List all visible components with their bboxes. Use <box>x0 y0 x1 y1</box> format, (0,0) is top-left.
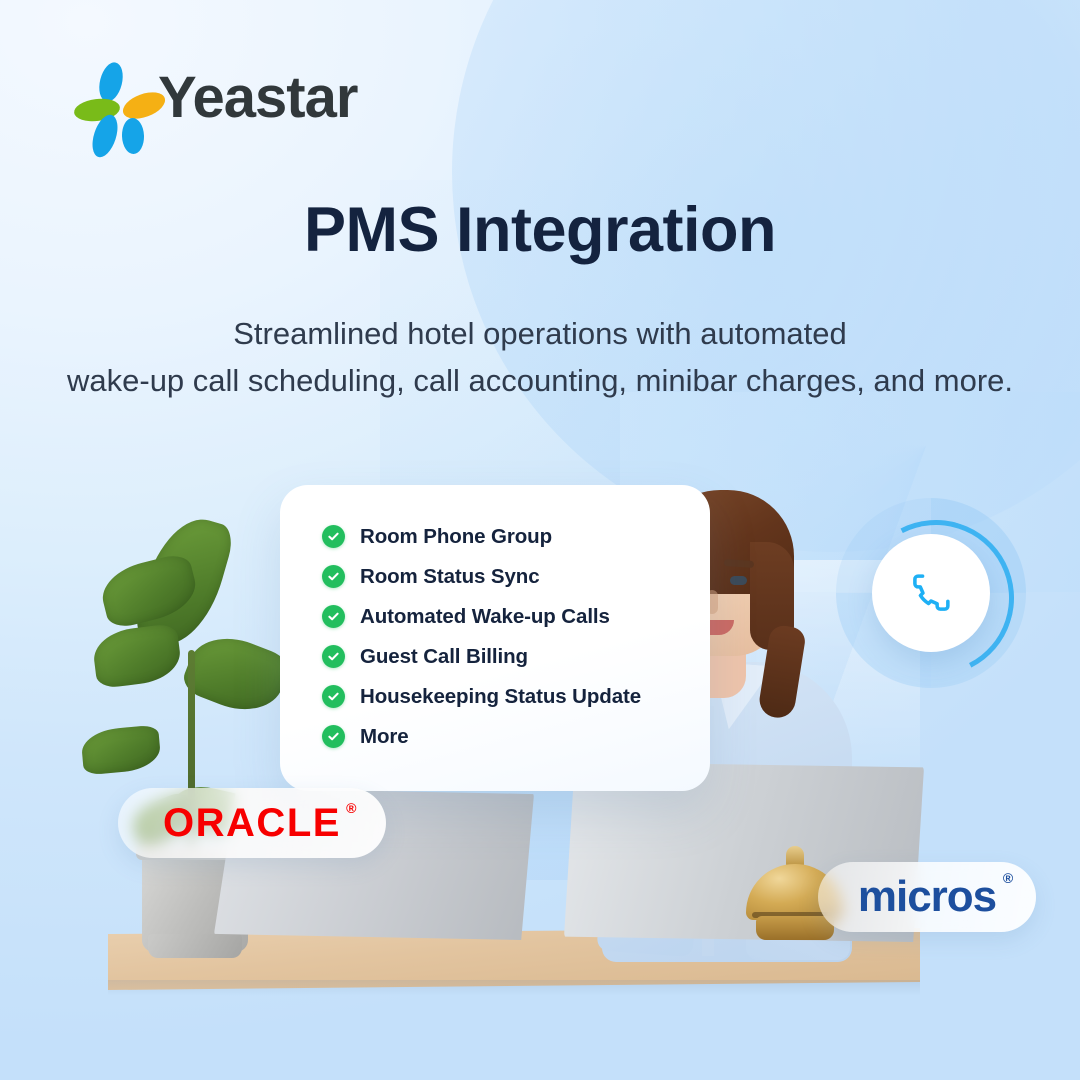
check-circle-icon <box>322 725 345 748</box>
feature-label: More <box>360 725 409 749</box>
poster-canvas: Yeastar PMS Integration Streamlined hote… <box>0 0 1080 1080</box>
list-item[interactable]: More <box>322 721 641 752</box>
feature-label: Room Phone Group <box>360 525 552 549</box>
brand-wordmark: Yeastar <box>158 69 357 127</box>
plant-leaf <box>80 725 162 776</box>
plant-leaf <box>179 625 293 723</box>
list-item[interactable]: Housekeeping Status Update <box>322 681 641 712</box>
list-item[interactable]: Room Status Sync <box>322 561 641 592</box>
micros-label: micros <box>858 872 996 921</box>
feature-label: Automated Wake-up Calls <box>360 605 610 629</box>
partner-badge-micros[interactable]: micros® <box>818 862 1036 932</box>
logo-petal-top-icon <box>95 60 126 104</box>
desk-shadow <box>108 980 920 996</box>
phone-feature-badge[interactable] <box>836 498 1026 688</box>
feature-label: Guest Call Billing <box>360 645 528 669</box>
oracle-label: ORACLE <box>163 801 341 845</box>
feature-label: Room Status Sync <box>360 565 540 589</box>
oracle-registered-icon: ® <box>346 801 358 815</box>
yeastar-pinwheel-logo <box>78 62 142 134</box>
plant-pot-foot <box>148 934 242 958</box>
page-title: PMS Integration <box>0 196 1080 265</box>
check-circle-icon <box>322 605 345 628</box>
partner-badge-oracle[interactable]: ORACLE® <box>118 788 386 858</box>
oracle-logo-text: ORACLE® <box>163 803 341 843</box>
micros-logo-text: micros® <box>858 875 996 919</box>
phone-handset-icon <box>908 570 954 616</box>
check-circle-icon <box>322 565 345 588</box>
check-circle-icon <box>322 685 345 708</box>
subtitle-line-1: Streamlined hotel operations with automa… <box>45 310 1035 357</box>
hero-scene: Room Phone Group Room Status Sync Automa… <box>0 440 1080 1040</box>
subtitle-line-2: wake-up call scheduling, call accounting… <box>45 357 1035 404</box>
page-subtitle: Streamlined hotel operations with automa… <box>45 310 1035 404</box>
feature-list: Room Phone Group Room Status Sync Automa… <box>322 521 641 752</box>
person-eye-right <box>730 576 747 585</box>
plant-leaf <box>91 623 183 689</box>
feature-label: Housekeeping Status Update <box>360 685 641 709</box>
phone-icon-circle <box>872 534 990 652</box>
bell-base <box>756 916 834 940</box>
check-circle-icon <box>322 645 345 668</box>
list-item[interactable]: Guest Call Billing <box>322 641 641 672</box>
logo-petal-bottom-center-icon <box>121 118 144 155</box>
feature-card: Room Phone Group Room Status Sync Automa… <box>280 485 710 791</box>
list-item[interactable]: Room Phone Group <box>322 521 641 552</box>
check-circle-icon <box>322 525 345 548</box>
micros-registered-icon: ® <box>1003 871 1012 885</box>
list-item[interactable]: Automated Wake-up Calls <box>322 601 641 632</box>
brand-logo[interactable]: Yeastar <box>78 62 357 134</box>
